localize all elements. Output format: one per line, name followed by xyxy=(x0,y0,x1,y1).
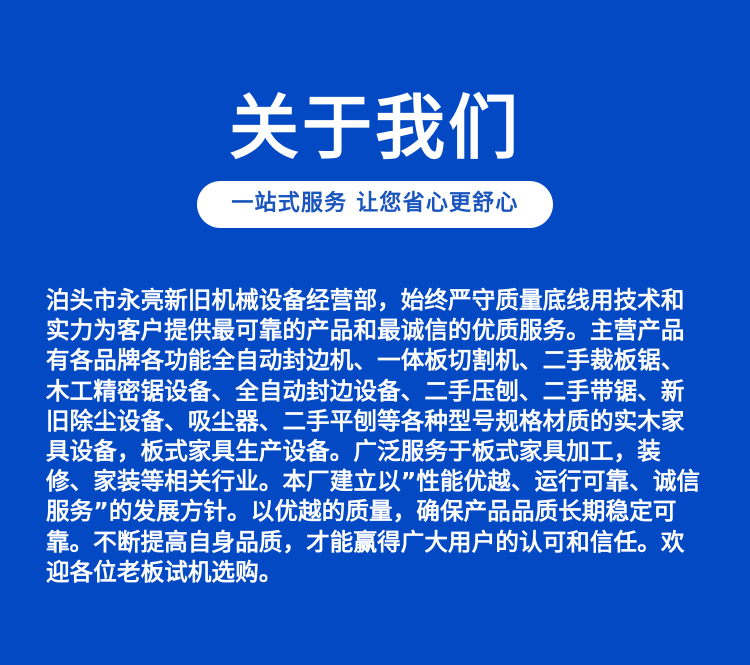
page-title: 关于我们 xyxy=(229,89,521,167)
company-description: 泊头市永亮新旧机械设备经营部，始终严守质量底线用技术和实力为客户提供最可靠的产品… xyxy=(46,285,708,587)
tagline-badge-container: 一站式服务 让您省心更舒心 xyxy=(0,181,750,228)
company-description-container: 泊头市永亮新旧机械设备经营部，始终严守质量底线用技术和实力为客户提供最可靠的产品… xyxy=(46,285,708,587)
tagline-badge: 一站式服务 让您省心更舒心 xyxy=(197,181,552,228)
about-us-banner: 关于我们 一站式服务 让您省心更舒心 泊头市永亮新旧机械设备经营部，始终严守质量… xyxy=(0,0,750,665)
